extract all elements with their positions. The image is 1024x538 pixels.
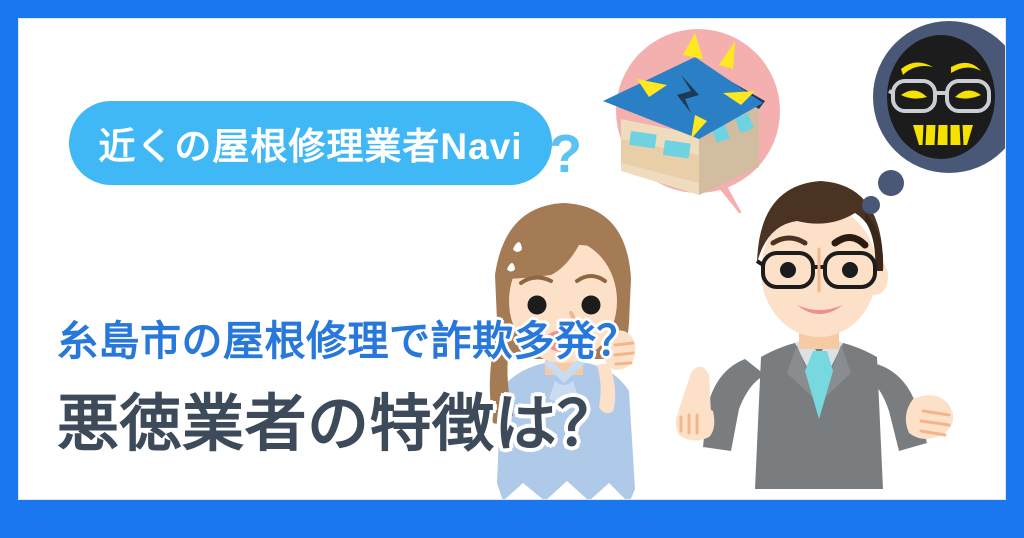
headline-group: 糸島市の屋根修理で詐欺多発？ 悪徳業者の特徴は？ <box>57 307 697 463</box>
speech-bubble-damaged-house <box>595 23 805 213</box>
banner-canvas: 近くの屋根修理業者Navi ? 糸島市の屋根修理で詐欺多発？ 悪徳業者の特徴は？ <box>0 0 1024 538</box>
banner-card: 近くの屋根修理業者Navi ? 糸島市の屋根修理で詐欺多発？ 悪徳業者の特徴は？ <box>18 18 1006 500</box>
site-badge-label: 近くの屋根修理業者Navi <box>98 116 522 170</box>
site-badge[interactable]: 近くの屋根修理業者Navi <box>69 101 552 185</box>
question-mark-decor: ? <box>549 127 582 181</box>
headline-line-2: 悪徳業者の特徴は？ <box>57 373 697 463</box>
headline-line-1: 糸島市の屋根修理で詐欺多発？ <box>57 307 697 367</box>
scam-contractor-face-icon <box>845 19 1006 219</box>
thought-bubble-scam-contractor <box>845 19 1006 219</box>
damaged-house-icon <box>595 23 805 213</box>
